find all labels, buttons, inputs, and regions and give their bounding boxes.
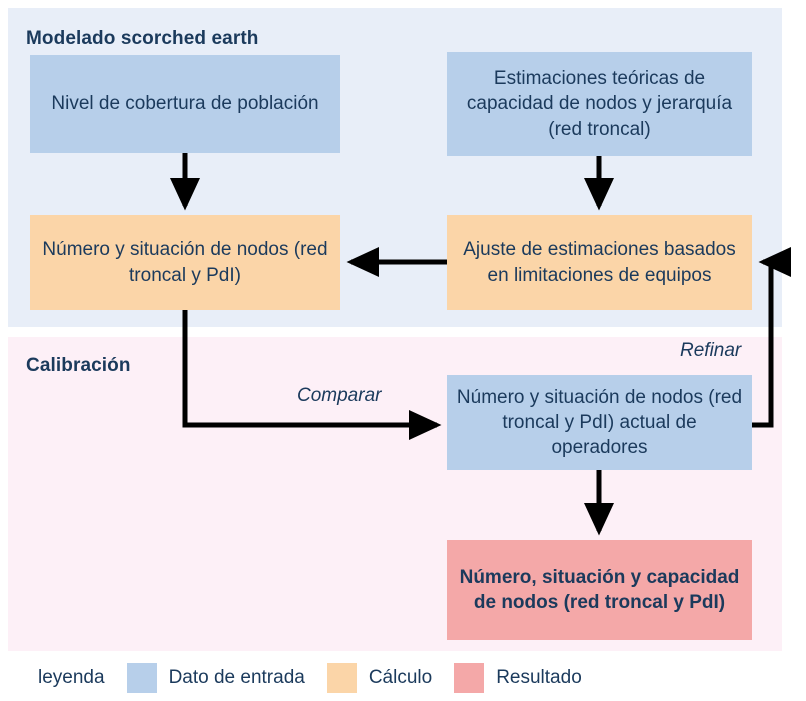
legend-item-dato-de-entrada: Dato de entrada: [127, 663, 305, 693]
edge-label-refinar: Refinar: [680, 340, 741, 362]
node-numero-situacion-nodos[interactable]: Número y situación de nodos (red troncal…: [30, 215, 340, 310]
legend-swatch-resultado: [454, 663, 484, 693]
legend-swatch-dato-de-entrada: [127, 663, 157, 693]
node-numero-situacion-nodos-actual[interactable]: Número y situación de nodos (red troncal…: [447, 375, 752, 470]
legend: leyenda Dato de entrada Cálculo Resultad…: [0, 655, 806, 701]
panel-modelado-title: Modelado scorched earth: [26, 28, 258, 50]
legend-label-dato-de-entrada: Dato de entrada: [169, 667, 305, 689]
panel-calibracion-title: Calibración: [26, 355, 131, 377]
legend-label-calculo: Cálculo: [369, 667, 432, 689]
edge-label-comparar: Comparar: [297, 385, 381, 407]
legend-item-resultado: Resultado: [454, 663, 582, 693]
legend-label-resultado: Resultado: [496, 667, 582, 689]
node-estimaciones-teoricas[interactable]: Estimaciones teóricas de capacidad de no…: [447, 52, 752, 156]
legend-item-calculo: Cálculo: [327, 663, 432, 693]
legend-swatch-calculo: [327, 663, 357, 693]
node-ajuste-de-estimaciones[interactable]: Ajuste de estimaciones basados en limita…: [447, 215, 752, 310]
legend-caption: leyenda: [38, 667, 105, 689]
node-nivel-de-cobertura[interactable]: Nivel de cobertura de población: [30, 55, 340, 153]
node-resultado-final[interactable]: Número, situación y capacidad de nodos (…: [447, 540, 752, 640]
flow-diagram: Modelado scorched earth Calibración: [0, 0, 806, 701]
